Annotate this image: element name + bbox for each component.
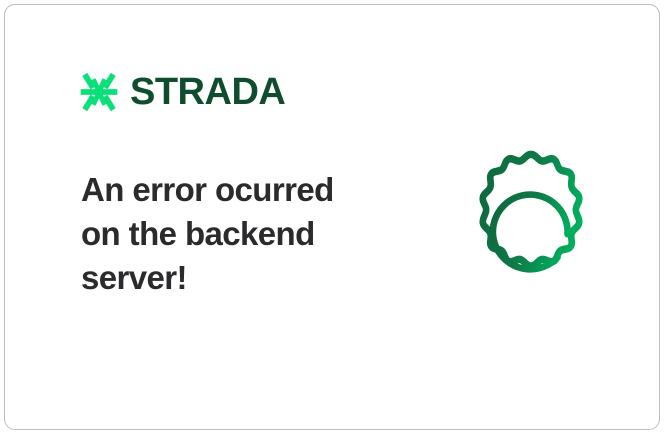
- error-message: An error ocurred on the backend server!: [81, 168, 381, 300]
- brand-name: STRADA: [130, 73, 285, 111]
- brand-logo: STRADA: [79, 69, 285, 115]
- strada-asterisk-icon: [79, 72, 119, 112]
- app-root: STRADA An error ocurred on the backend s…: [0, 0, 666, 436]
- gear-icon: [448, 142, 614, 308]
- error-card: STRADA An error ocurred on the backend s…: [4, 4, 660, 430]
